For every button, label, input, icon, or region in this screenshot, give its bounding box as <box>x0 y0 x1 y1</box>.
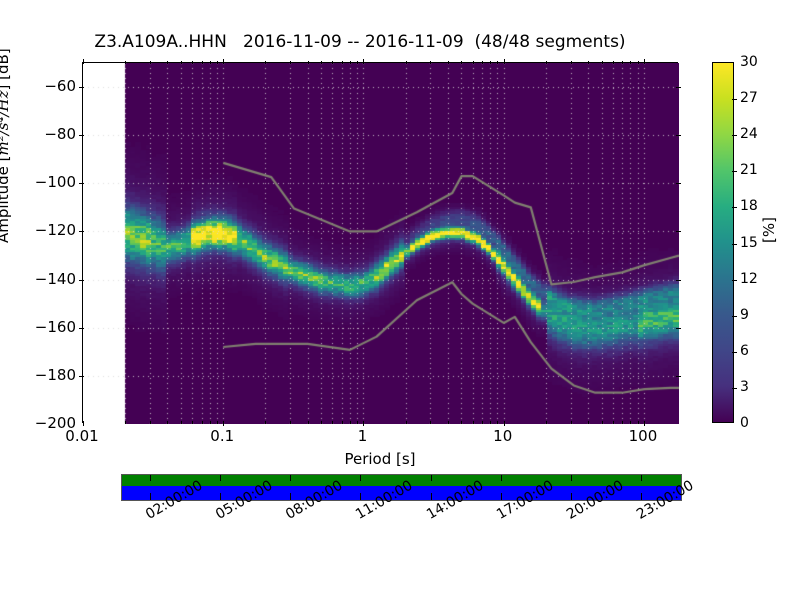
colorbar-tick-mark <box>732 244 737 245</box>
x-minor-tick-mark <box>448 421 449 424</box>
x-minor-tick-mark <box>181 421 182 424</box>
x-minor-tick-mark <box>546 61 547 64</box>
colorbar-tick-label: 18 <box>740 198 758 214</box>
x-minor-tick-mark <box>430 61 431 64</box>
x-minor-tick-mark <box>181 61 182 64</box>
y-tick-mark <box>676 280 681 281</box>
coverage-tick-mark <box>501 493 502 500</box>
x-minor-tick-mark <box>167 421 168 424</box>
x-tick-label: 100 <box>629 427 658 445</box>
y-tick-mark <box>79 231 84 232</box>
x-tick-mark <box>504 59 505 64</box>
x-minor-tick-mark <box>602 421 603 424</box>
coverage-tick-mark <box>360 475 361 481</box>
x-minor-tick-mark <box>308 61 309 64</box>
colorbar-tick-label: 30 <box>740 54 758 70</box>
x-minor-tick-mark <box>150 61 151 64</box>
colorbar-tick-mark <box>732 135 737 136</box>
coverage-tick-mark <box>431 475 432 481</box>
colorbar-tick-label: 24 <box>740 126 758 142</box>
x-tick-mark <box>504 421 505 426</box>
colorbar-tick-label: 12 <box>740 271 758 287</box>
ppsd-plot-area[interactable] <box>82 62 678 423</box>
x-minor-tick-mark <box>406 421 407 424</box>
x-minor-tick-mark <box>588 61 589 64</box>
y-tick-mark <box>676 231 681 232</box>
y-tick-mark <box>676 183 681 184</box>
colorbar-tick-label: 9 <box>740 307 749 323</box>
y-axis-label-prefix: Amplitude [ <box>0 156 12 244</box>
coverage-tick-mark <box>501 475 502 481</box>
x-minor-tick-mark <box>210 61 211 64</box>
x-minor-tick-mark <box>332 61 333 64</box>
colorbar-tick-mark <box>732 99 737 100</box>
x-axis-label: Period [s] <box>82 450 678 468</box>
x-tick-mark <box>83 59 84 64</box>
x-minor-tick-mark <box>350 61 351 64</box>
x-tick-mark <box>363 421 364 426</box>
x-minor-tick-mark <box>497 421 498 424</box>
y-tick-mark <box>79 280 84 281</box>
colorbar-tick-mark <box>732 316 737 317</box>
y-tick-mark <box>79 376 84 377</box>
colorbar[interactable] <box>712 62 734 423</box>
x-minor-tick-mark <box>638 421 639 424</box>
x-tick-mark <box>223 59 224 64</box>
y-tick-label: −160 <box>16 318 76 336</box>
ppsd-figure: Z3.A109A..HHN 2016-11-09 -- 2016-11-09 (… <box>0 0 800 600</box>
y-tick-mark <box>676 135 681 136</box>
colorbar-tick-label: 6 <box>740 343 749 359</box>
x-minor-tick-mark <box>290 421 291 424</box>
x-minor-tick-mark <box>321 61 322 64</box>
y-tick-label: −60 <box>16 77 76 95</box>
x-minor-tick-mark <box>482 421 483 424</box>
y-tick-mark <box>79 183 84 184</box>
y-axis-label-math: m²/s⁴/Hz <box>0 90 12 155</box>
x-minor-tick-mark <box>210 421 211 424</box>
colorbar-tick-mark <box>732 207 737 208</box>
x-minor-tick-mark <box>167 61 168 64</box>
x-minor-tick-mark <box>217 421 218 424</box>
x-minor-tick-mark <box>602 61 603 64</box>
x-minor-tick-mark <box>622 421 623 424</box>
coverage-tick-mark <box>290 493 291 500</box>
coverage-tick-mark <box>220 475 221 481</box>
x-minor-tick-mark <box>638 61 639 64</box>
x-minor-tick-mark <box>622 61 623 64</box>
colorbar-tick-label: 0 <box>740 415 749 431</box>
y-tick-mark <box>676 376 681 377</box>
coverage-tick-mark <box>431 493 432 500</box>
x-tick-label: 10 <box>493 427 512 445</box>
x-minor-tick-mark <box>461 61 462 64</box>
x-minor-tick-mark <box>630 421 631 424</box>
x-minor-tick-mark <box>217 61 218 64</box>
x-minor-tick-mark <box>613 421 614 424</box>
x-tick-mark <box>363 59 364 64</box>
x-minor-tick-mark <box>332 421 333 424</box>
x-minor-tick-mark <box>588 421 589 424</box>
colorbar-tick-mark <box>732 280 737 281</box>
x-minor-tick-mark <box>125 61 126 64</box>
x-minor-tick-mark <box>430 421 431 424</box>
y-tick-label: −120 <box>16 221 76 239</box>
y-tick-mark <box>79 135 84 136</box>
x-minor-tick-mark <box>150 421 151 424</box>
x-tick-label: 0.1 <box>210 427 234 445</box>
colorbar-tick-label: 27 <box>740 90 758 106</box>
x-minor-tick-mark <box>192 421 193 424</box>
x-minor-tick-mark <box>202 421 203 424</box>
x-minor-tick-mark <box>461 421 462 424</box>
y-tick-mark <box>79 87 84 88</box>
x-minor-tick-mark <box>630 61 631 64</box>
x-minor-tick-mark <box>350 421 351 424</box>
x-minor-tick-mark <box>473 61 474 64</box>
colorbar-tick-label: 21 <box>740 162 758 178</box>
ppsd-histogram-canvas <box>83 63 679 424</box>
x-tick-label: 0.01 <box>65 427 98 445</box>
y-tick-mark <box>676 87 681 88</box>
x-minor-tick-mark <box>613 61 614 64</box>
y-tick-mark <box>676 328 681 329</box>
colorbar-tick-label: 3 <box>740 379 749 395</box>
x-minor-tick-mark <box>482 61 483 64</box>
x-minor-tick-mark <box>357 61 358 64</box>
y-tick-label: −140 <box>16 270 76 288</box>
y-axis-label: Amplitude [m²/s⁴/Hz] [dB] <box>0 48 12 243</box>
x-tick-mark <box>644 59 645 64</box>
x-minor-tick-mark <box>342 61 343 64</box>
x-minor-tick-mark <box>571 421 572 424</box>
colorbar-label: [%] <box>760 217 778 243</box>
colorbar-tick-mark <box>732 352 737 353</box>
x-minor-tick-mark <box>321 421 322 424</box>
x-minor-tick-mark <box>342 421 343 424</box>
x-minor-tick-mark <box>571 61 572 64</box>
x-minor-tick-mark <box>290 61 291 64</box>
x-minor-tick-mark <box>125 421 126 424</box>
x-tick-label: 1 <box>358 427 368 445</box>
x-minor-tick-mark <box>192 61 193 64</box>
coverage-tick-mark <box>641 475 642 481</box>
x-minor-tick-mark <box>308 421 309 424</box>
coverage-tick-mark <box>150 493 151 500</box>
x-tick-mark <box>644 421 645 426</box>
colorbar-tick-mark <box>732 388 737 389</box>
coverage-tick-mark <box>571 493 572 500</box>
coverage-tick-mark <box>150 475 151 481</box>
coverage-tick-mark <box>290 475 291 481</box>
x-minor-tick-mark <box>490 61 491 64</box>
y-tick-mark <box>79 328 84 329</box>
y-tick-label: −100 <box>16 173 76 191</box>
x-minor-tick-mark <box>265 61 266 64</box>
x-minor-tick-mark <box>202 61 203 64</box>
x-minor-tick-mark <box>406 61 407 64</box>
y-tick-label: −180 <box>16 366 76 384</box>
coverage-tick-mark <box>571 475 572 481</box>
y-axis-label-suffix: ] [dB] <box>0 48 12 90</box>
x-minor-tick-mark <box>546 421 547 424</box>
coverage-tick-mark <box>360 493 361 500</box>
coverage-tick-mark <box>641 493 642 500</box>
x-minor-tick-mark <box>490 421 491 424</box>
y-tick-label: −80 <box>16 125 76 143</box>
x-minor-tick-mark <box>497 61 498 64</box>
x-minor-tick-mark <box>473 421 474 424</box>
x-minor-tick-mark <box>357 421 358 424</box>
colorbar-tick-label: 15 <box>740 235 758 251</box>
x-tick-mark <box>223 421 224 426</box>
x-minor-tick-mark <box>265 421 266 424</box>
colorbar-tick-mark <box>732 171 737 172</box>
coverage-tick-mark <box>220 493 221 500</box>
x-minor-tick-mark <box>448 61 449 64</box>
x-tick-mark <box>83 421 84 426</box>
page-title: Z3.A109A..HHN 2016-11-09 -- 2016-11-09 (… <box>0 32 720 52</box>
